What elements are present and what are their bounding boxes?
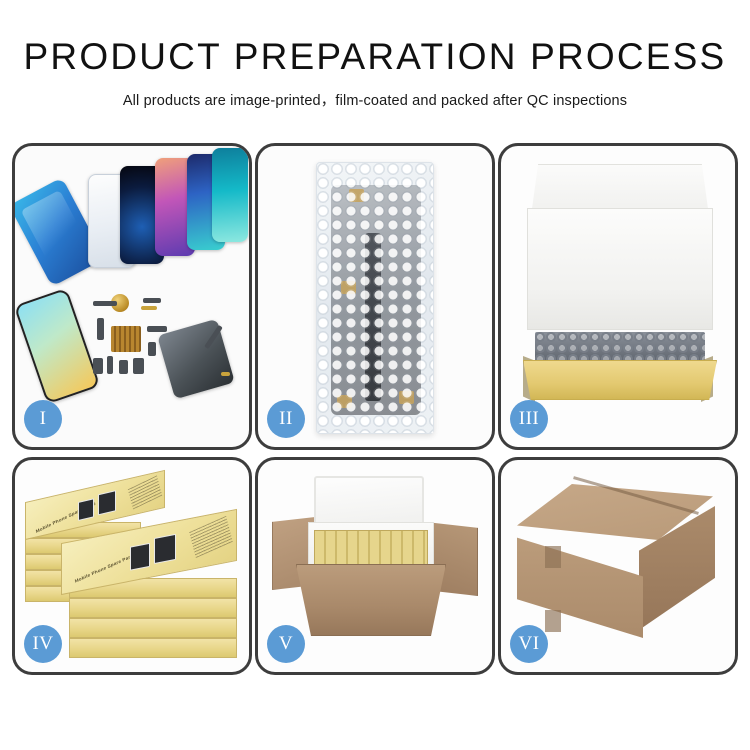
- carton-front-face: [517, 524, 643, 638]
- step-badge-5: V: [267, 625, 305, 663]
- box-product-image: [154, 534, 176, 564]
- retail-box: [69, 618, 237, 638]
- carton-tape-tab: [545, 610, 561, 632]
- box-front-yellow: [523, 360, 717, 400]
- box-spec-text: [189, 516, 233, 558]
- spare-part: [107, 356, 113, 374]
- tape-strip: [399, 391, 414, 404]
- step-badge-4: IV: [24, 625, 62, 663]
- panel-stacked-retail-boxes[interactable]: Mobile Phone Spare Parts Mobile Phone Sp…: [12, 457, 252, 675]
- retail-box-label: Mobile Phone Spare Parts: [74, 553, 135, 584]
- foam-lid: [314, 476, 424, 528]
- step-badge-3: III: [510, 400, 548, 438]
- panel-products-overview[interactable]: I: [12, 143, 252, 450]
- retail-box: [69, 598, 237, 618]
- step-badge-6: VI: [510, 625, 548, 663]
- box-spec-text: [128, 475, 162, 509]
- yellow-boxes-inside: [314, 530, 428, 566]
- spare-part: [143, 298, 161, 303]
- spare-part: [148, 342, 156, 356]
- retail-box: [69, 638, 237, 658]
- spare-part: [141, 306, 157, 310]
- box-product-image: [78, 498, 94, 521]
- process-step-grid: I II: [12, 143, 738, 677]
- flex-cable: [365, 233, 381, 401]
- box-product-image: [98, 490, 116, 515]
- carton-tape-tab: [545, 546, 561, 568]
- step-badge-1: I: [24, 400, 62, 438]
- panel-carton-with-foam[interactable]: V: [255, 457, 495, 675]
- spare-part: [147, 326, 167, 332]
- bubble-wrapped-items: [535, 332, 705, 364]
- phone-cyan-gradient: [212, 148, 248, 242]
- spare-part: [119, 360, 128, 374]
- box-product-image: [130, 543, 150, 571]
- panel-bubble-wrapped-part[interactable]: II: [255, 143, 495, 450]
- foam-liner: [527, 208, 713, 330]
- page-title: PRODUCT PREPARATION PROCESS: [0, 38, 750, 77]
- bubble-wrap-bag: [316, 162, 434, 434]
- spare-part: [133, 358, 144, 374]
- tape-strip: [337, 395, 352, 408]
- spare-part: [221, 372, 230, 376]
- panel-open-inner-box[interactable]: III: [498, 143, 738, 450]
- carton-body: [296, 564, 446, 636]
- phone-large-foreground: [14, 288, 101, 405]
- tape-strip: [341, 281, 356, 294]
- panel-sealed-carton[interactable]: VI: [498, 457, 738, 675]
- screw-tray-part: [111, 326, 141, 352]
- tape-strip: [349, 189, 364, 202]
- header: PRODUCT PREPARATION PROCESS All products…: [0, 0, 750, 110]
- page-subtitle: All products are image-printed，film-coat…: [0, 89, 750, 110]
- spare-part: [93, 358, 103, 374]
- phone-back-housing: [157, 319, 235, 400]
- spare-part: [93, 301, 117, 306]
- product-preparation-infographic: PRODUCT PREPARATION PROCESS All products…: [0, 0, 750, 750]
- spare-part: [97, 318, 104, 340]
- step-badge-2: II: [267, 400, 305, 438]
